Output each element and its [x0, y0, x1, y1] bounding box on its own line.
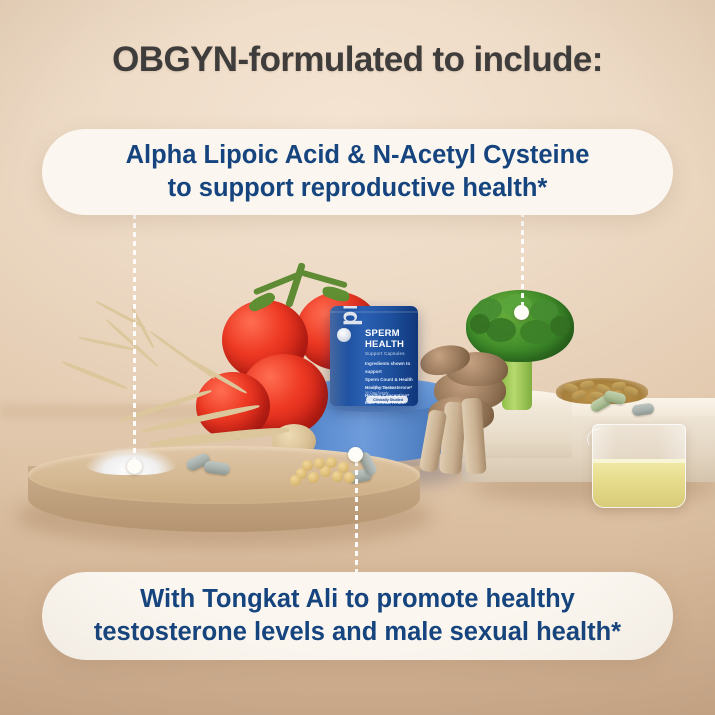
jar-seal-icon [337, 328, 351, 342]
tongkat-ali-card-line1: With Tongkat Ali to promote healthy [140, 585, 575, 615]
connector-right-marker [514, 305, 529, 320]
connector-bottom [355, 452, 358, 574]
connector-bottom-marker [348, 447, 363, 462]
product-jar[interactable]: preggo SPERM HEALTH Support Capsules Ing… [330, 306, 418, 406]
oil-glass [592, 424, 686, 508]
alpha-lipoic-card[interactable]: Alpha Lipoic Acid & N-Acetyl Cysteine to… [42, 129, 673, 215]
product-name: SPERM HEALTH [365, 329, 415, 350]
page-title: OBGYN-formulated to include: [0, 40, 715, 80]
connector-left-marker [127, 459, 142, 474]
product-name-line2: HEALTH [365, 340, 415, 351]
tongkat-ali-card[interactable]: With Tongkat Ali to promote healthy test… [42, 572, 673, 660]
product-subtitle: Support Capsules [365, 351, 415, 356]
oil-surface [593, 459, 685, 463]
alpha-lipoic-card-line1: Alpha Lipoic Acid & N-Acetyl Cysteine [126, 141, 590, 171]
tongkat-ali-card-line2: testosterone levels and male sexual heal… [94, 618, 621, 648]
brand-logo: preggo [335, 306, 364, 326]
connector-left [133, 214, 136, 466]
alpha-lipoic-card-line2: to support reproductive health* [168, 174, 548, 204]
oil-liquid [593, 459, 685, 507]
product-marketing-image: OBGYN-formulated to include: [0, 0, 715, 715]
connector-right [521, 212, 524, 312]
broccoli-head [466, 290, 574, 362]
product-badge-label: Clinically Studied [368, 397, 408, 404]
